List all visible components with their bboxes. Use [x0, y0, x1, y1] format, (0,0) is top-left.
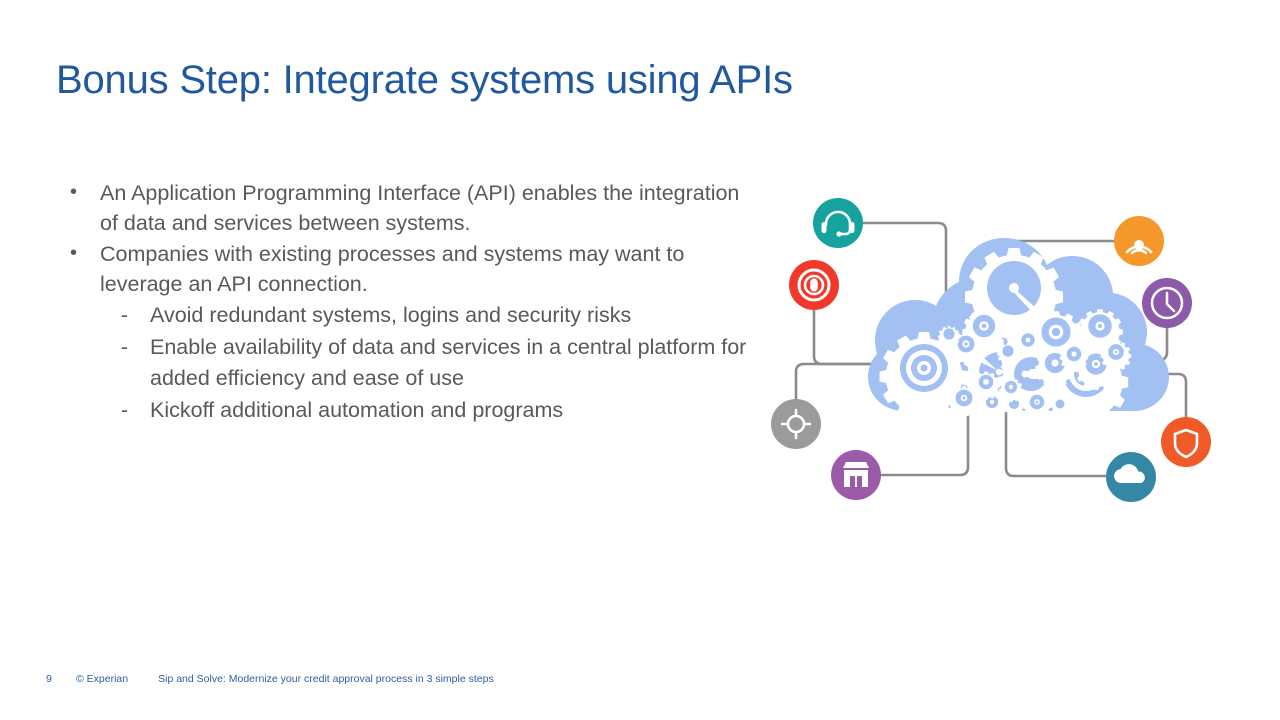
- node-cloud[interactable]: [1106, 452, 1156, 502]
- shop-icon: [843, 462, 869, 487]
- node-biometrics[interactable]: [789, 260, 839, 310]
- node-security[interactable]: [1161, 417, 1211, 467]
- sub-bullet-marker: -: [121, 395, 128, 427]
- deck-title: Sip and Solve: Modernize your credit app…: [158, 672, 494, 686]
- page-title: Bonus Step: Integrate systems using APIs: [56, 54, 1156, 106]
- sub-bullet-item-3: - Kickoff additional automation and prog…: [62, 395, 762, 427]
- node-broadcast[interactable]: [1114, 216, 1164, 266]
- node-time[interactable]: [1142, 278, 1192, 328]
- headset-mic: [836, 231, 841, 236]
- slide-footer: 9© ExperianSip and Solve: Modernize your…: [46, 672, 494, 686]
- signal-core: [1134, 240, 1144, 250]
- sub-bullet-item-1: - Avoid redundant systems, logins and se…: [62, 300, 762, 332]
- node-targeting[interactable]: [771, 399, 821, 449]
- node-support[interactable]: [813, 198, 863, 248]
- sub-bullet-item-2: - Enable availability of data and servic…: [62, 332, 762, 395]
- bullet-list: • An Application Programming Interface (…: [62, 178, 762, 426]
- bullet-text: An Application Programming Interface (AP…: [100, 178, 762, 238]
- slide-canvas: Bonus Step: Integrate systems using APIs…: [0, 0, 1280, 720]
- connector-support: [863, 223, 946, 298]
- headset-earpiece-right: [850, 222, 855, 233]
- node-circle-targeting[interactable]: [771, 399, 821, 449]
- bullet-marker: •: [70, 238, 77, 268]
- sub-bullet-text: Kickoff additional automation and progra…: [150, 395, 762, 427]
- cloud-api-integration-diagram: [756, 176, 1226, 520]
- bullet-text: Companies with existing processes and sy…: [100, 239, 762, 299]
- node-circle-security[interactable]: [1161, 417, 1211, 467]
- node-circle-support[interactable]: [813, 198, 863, 248]
- page-number: 9: [46, 672, 76, 686]
- bullet-item-2: • Companies with existing processes and …: [62, 239, 762, 299]
- sub-bullet-marker: -: [121, 300, 128, 332]
- sub-bullet-text: Avoid redundant systems, logins and secu…: [150, 300, 762, 332]
- cloud-gears: [868, 238, 1169, 424]
- node-storefront[interactable]: [831, 450, 881, 500]
- sub-bullet-text: Enable availability of data and services…: [150, 332, 762, 395]
- sub-bullet-marker: -: [121, 332, 128, 364]
- headset-earpiece-left: [822, 222, 827, 233]
- bullet-marker: •: [70, 177, 77, 207]
- copyright-notice: © Experian: [76, 672, 128, 686]
- bullet-item-1: • An Application Programming Interface (…: [62, 178, 762, 238]
